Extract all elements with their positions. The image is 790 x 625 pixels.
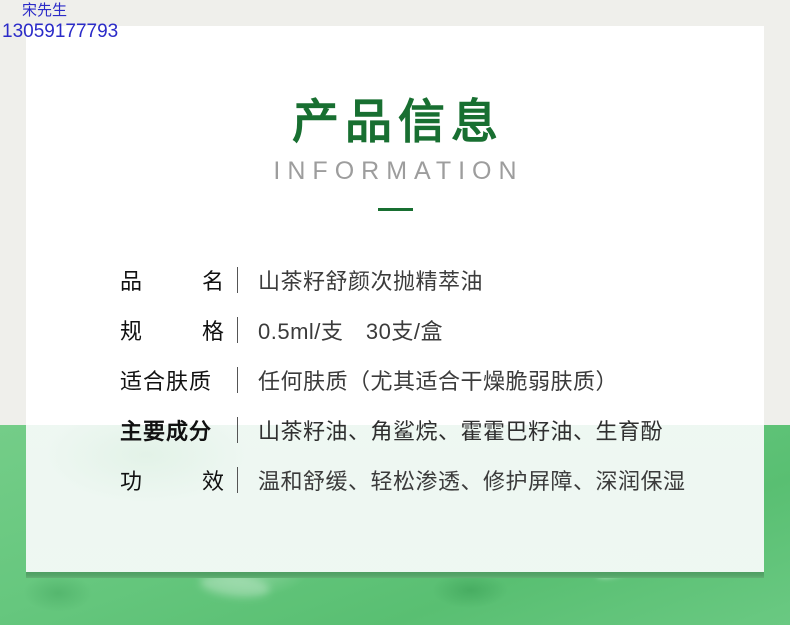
spec-label-char: 格 <box>202 314 224 346</box>
spec-label-char: 名 <box>202 264 224 296</box>
spec-row-specification: 规 格 0.5ml/支 30支/盒 <box>120 305 764 355</box>
spec-row-product-name: 品 名 山茶籽舒颜次抛精萃油 <box>120 255 764 305</box>
spec-label: 品 名 <box>120 264 224 296</box>
spec-value: 温和舒缓、轻松渗透、修护屏障、深润保湿 <box>258 464 686 496</box>
page-title: 产品信息 <box>26 98 764 145</box>
spec-label: 主要成分 <box>120 414 224 446</box>
spec-label-char: 效 <box>202 464 224 496</box>
card-header: 产品信息 INFORMATION <box>26 26 764 211</box>
spec-row-skin-type: 适合肤质 任何肤质（尤其适合干燥脆弱肤质） <box>120 355 764 405</box>
spec-label-char: 功 <box>120 464 142 496</box>
spec-row-efficacy: 功 效 温和舒缓、轻松渗透、修护屏障、深润保湿 <box>120 455 764 505</box>
information-card: 产品信息 INFORMATION 品 名 山茶籽舒颜次抛精萃油 规 格 <box>26 26 764 578</box>
spec-value: 任何肤质（尤其适合干燥脆弱肤质） <box>258 364 618 396</box>
spec-label-char: 品 <box>120 264 142 296</box>
spec-separator-icon <box>237 467 238 493</box>
spec-value: 0.5ml/支 30支/盒 <box>258 314 443 346</box>
spec-separator-icon <box>237 367 238 393</box>
spec-label: 功 效 <box>120 464 224 496</box>
watermark-name: 宋先生 <box>22 3 118 18</box>
product-info-page: 产品信息 INFORMATION 品 名 山茶籽舒颜次抛精萃油 规 格 <box>0 0 790 625</box>
spec-value: 山茶籽油、角鲨烷、霍霍巴籽油、生育酚 <box>258 414 663 446</box>
spec-label-char: 规 <box>120 314 142 346</box>
page-subtitle: INFORMATION <box>26 159 764 184</box>
spec-label: 规 格 <box>120 314 224 346</box>
spec-separator-icon <box>237 417 238 443</box>
spec-separator-icon <box>237 267 238 293</box>
spec-value: 山茶籽舒颜次抛精萃油 <box>258 264 483 296</box>
spec-label: 适合肤质 <box>120 364 224 396</box>
spec-row-main-ingredients: 主要成分 山茶籽油、角鲨烷、霍霍巴籽油、生育酚 <box>120 405 764 455</box>
spec-separator-icon <box>237 317 238 343</box>
title-divider <box>378 208 413 211</box>
spec-list: 品 名 山茶籽舒颜次抛精萃油 规 格 0.5ml/支 30支/盒 适合肤质 <box>26 255 764 505</box>
